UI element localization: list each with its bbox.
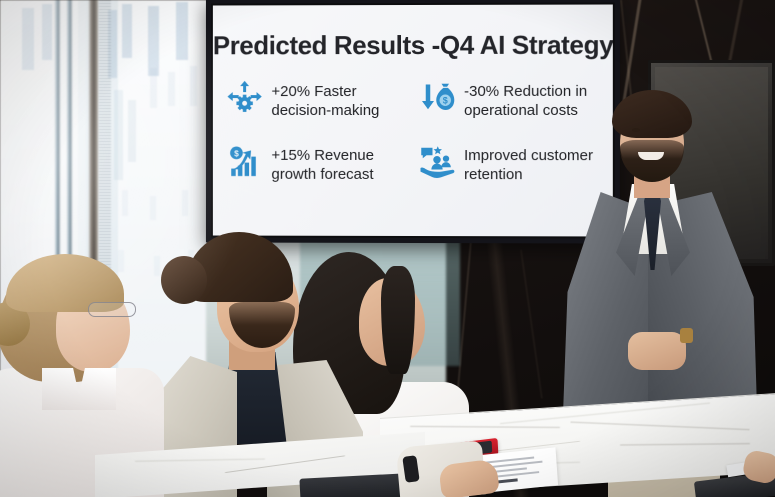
slide-bullet-grid: +20% Faster decision-making [227,83,605,185]
revenue-growth-chart-icon: $ [227,144,263,180]
conference-room-scene: Predicted Results -Q4 AI Strategy [0,0,775,497]
bullet-item-revenue-growth-forecast: $ +15% Revenue growth forecast [227,147,411,185]
presenter-eye-left [632,128,640,132]
w1-eyeglasses [88,302,136,317]
customer-retention-hand-icon [419,144,455,180]
bullet-line-1: +15% Revenue [271,147,374,164]
presenter-clasped-hands [628,332,686,370]
svg-text:$: $ [234,149,239,158]
money-bag-down-arrow-icon: $ [419,80,455,116]
bullet-text: +15% Revenue growth forecast [271,147,374,185]
bullet-item-faster-decision-making: +20% Faster decision-making [227,83,411,121]
presenter-hair [612,90,692,138]
bullet-text: +20% Faster decision-making [271,83,379,121]
gear-arrows-icon [227,80,263,116]
bullet-line-2: decision-making [271,102,379,119]
bullet-line-2: growth forecast [271,166,373,183]
presentation-screen[interactable]: Predicted Results -Q4 AI Strategy [206,0,620,244]
presenter-beard [620,140,684,182]
presenter-mouth [638,152,664,160]
slide-title: Predicted Results -Q4 AI Strategy [213,30,613,62]
presenter-eye-right [660,128,668,132]
bullet-line-1: +20% Faster [271,83,356,100]
bullet-line-2: retention [464,166,523,183]
slide-surface: Predicted Results -Q4 AI Strategy [213,5,613,237]
presenter-wristwatch [680,328,693,343]
svg-text:$: $ [443,96,448,106]
w3-hair-front [381,266,415,374]
